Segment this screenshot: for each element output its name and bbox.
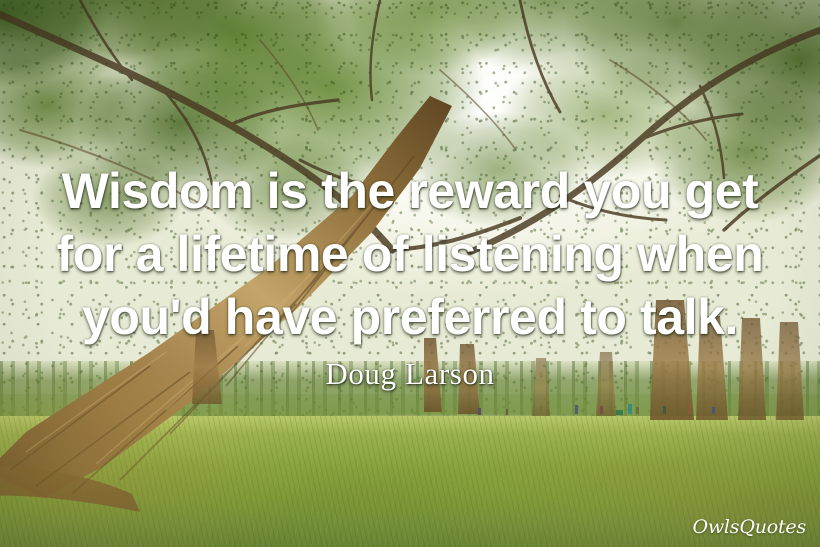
background-photograph: [0, 0, 820, 547]
watermark-owls-text: Owls: [692, 516, 739, 538]
watermark-quotes-text: Quotes: [739, 516, 806, 538]
owlsquotes-watermark: OwlsQuotes: [692, 516, 806, 538]
quote-image-card: Wisdom is the reward you get for a lifet…: [0, 0, 820, 547]
